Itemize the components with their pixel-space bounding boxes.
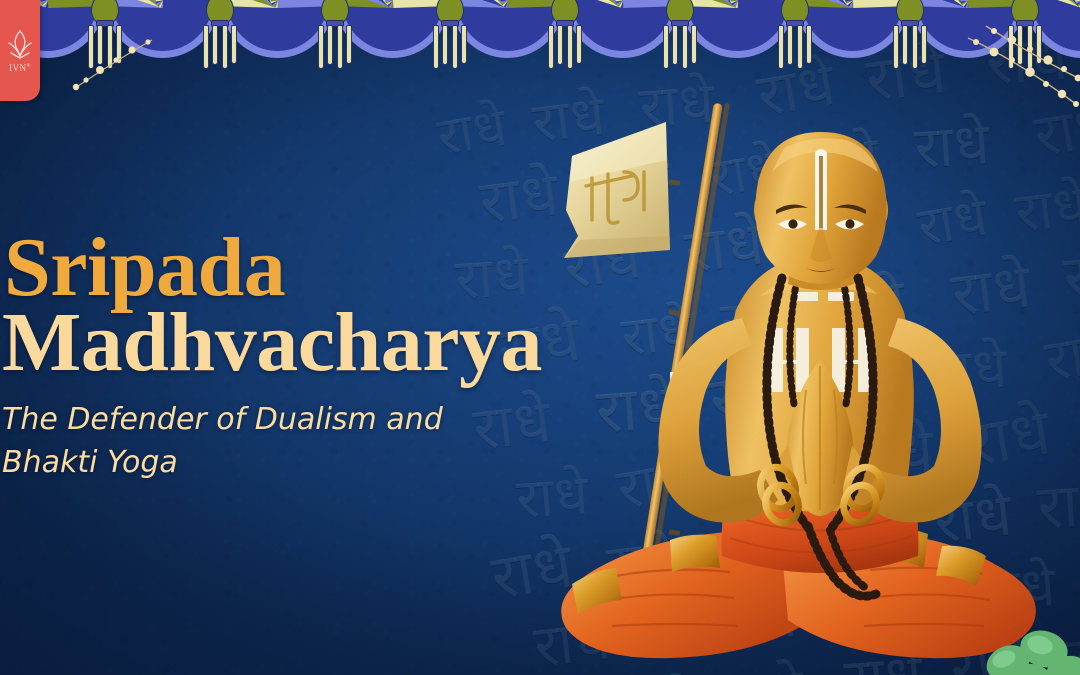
brand-badge[interactable]: IVN® <box>0 0 40 101</box>
tassel-strands <box>203 25 237 69</box>
tassel-strand <box>212 25 218 65</box>
tassel-strand <box>442 25 448 65</box>
tassel-strand <box>797 25 803 69</box>
saint-head <box>755 132 886 284</box>
tassel-strand <box>88 25 94 69</box>
fan-inner <box>457 0 558 51</box>
fan-inner <box>227 0 328 51</box>
tassel-strand <box>107 25 113 69</box>
fan-inner <box>687 0 788 51</box>
border-fan-motif <box>1025 0 1080 58</box>
tulsi-leaf-sprig <box>964 589 1080 675</box>
tassel-strand <box>576 25 582 64</box>
tassel-strand <box>548 25 554 69</box>
tassel-strand <box>231 25 237 64</box>
tassel-strand <box>893 25 899 69</box>
tassel-strand <box>116 25 122 64</box>
tassel-strands <box>663 25 697 69</box>
tassel-strand <box>1036 25 1042 64</box>
tassel-strand <box>97 25 103 65</box>
tassel-strand <box>203 25 209 69</box>
tassel-strands <box>1008 25 1042 69</box>
page-title-line2: Madhvacharya <box>0 303 600 384</box>
tassel-strands <box>88 25 122 69</box>
tassel-strand <box>691 25 697 64</box>
tassel-strand <box>1027 25 1033 69</box>
tassel-strand <box>452 25 458 69</box>
fan-inner <box>802 0 903 51</box>
tassel-strand <box>1008 25 1014 69</box>
tassel-strand <box>327 25 333 65</box>
fan-inner <box>112 0 213 51</box>
tassel-strand <box>806 25 812 64</box>
fan-inner <box>917 0 1018 51</box>
fan-inner <box>342 0 443 51</box>
tassel-strand <box>557 25 563 65</box>
tassel-strand <box>567 25 573 69</box>
page-subtitle: The Defender of Dualism and Bhakti Yoga <box>2 399 522 484</box>
tassel-strand <box>461 25 467 64</box>
tassel-strand <box>663 25 669 69</box>
brand-wordmark: IVN® <box>9 64 31 73</box>
madhvacharya-portrait <box>520 60 1080 675</box>
decorative-fan-border <box>0 0 1080 78</box>
headline-block: Sripada Madhvacharya The Defender of Dua… <box>0 228 600 484</box>
tassel-strands <box>548 25 582 69</box>
forehead-tilak <box>815 149 827 230</box>
fan-inner <box>572 0 673 51</box>
tassel-strands <box>318 25 352 69</box>
tassel-strand <box>921 25 927 64</box>
tassel-strand <box>318 25 324 69</box>
tassel-strand <box>346 25 352 64</box>
tassel-strand <box>672 25 678 65</box>
tassel-strand <box>1017 25 1023 65</box>
tassel-strand <box>787 25 793 65</box>
tassel-strand <box>912 25 918 69</box>
tassel-strand <box>222 25 228 69</box>
tassel-strands <box>778 25 812 69</box>
banner-canvas: राधेराधेराधेराधेराधेराधेराधेराधेराधेराधे… <box>0 0 1080 675</box>
tassel-strand <box>682 25 688 69</box>
tassel-strand <box>902 25 908 65</box>
tassel-strand <box>433 25 439 69</box>
lotus-flame-logo-icon <box>7 29 33 63</box>
tassel-strands <box>893 25 927 69</box>
tassel-strand <box>778 25 784 69</box>
tassel-strand <box>337 25 343 69</box>
tassel-strands <box>433 25 467 69</box>
